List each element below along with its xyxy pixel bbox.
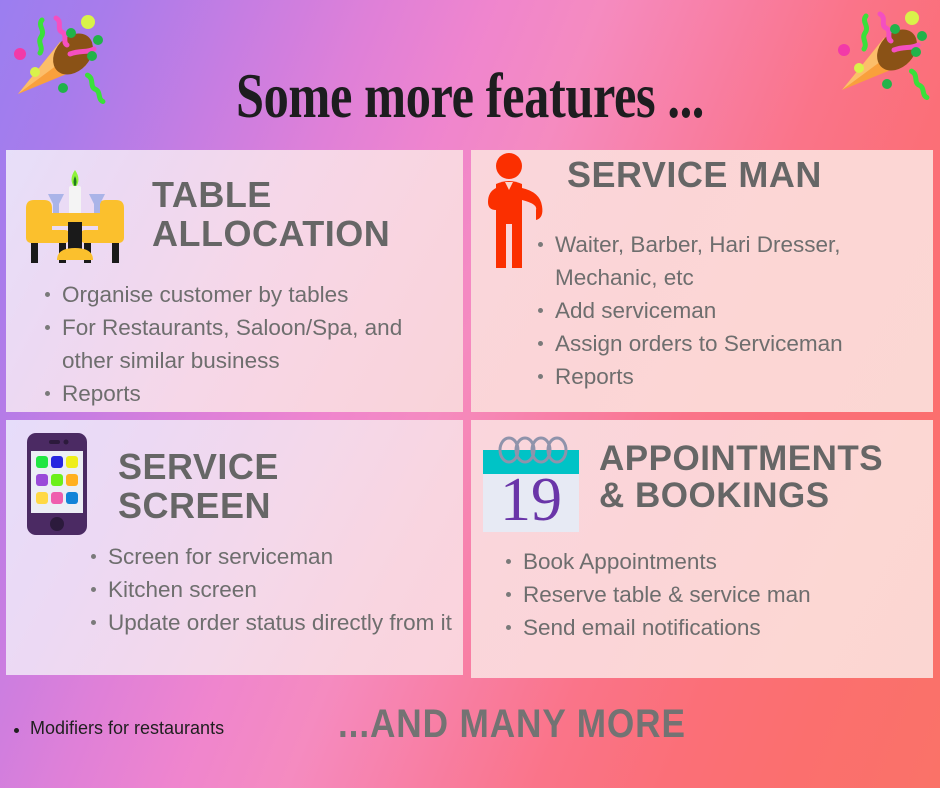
party-popper-icon xyxy=(8,8,108,104)
list-item: Book Appointments xyxy=(501,545,925,578)
list-item: Organise customer by tables xyxy=(40,278,445,311)
list-item: For Restaurants, Saloon/Spa, and other s… xyxy=(40,311,445,377)
list-item: Reports xyxy=(533,360,925,393)
dining-table-icon xyxy=(12,164,138,264)
list-item: Reserve table & service man xyxy=(501,578,925,611)
slide-canvas: Some more features ... xyxy=(0,0,940,788)
page-title: Some more features ... xyxy=(94,56,846,136)
feature-bullet-list: Book Appointments Reserve table & servic… xyxy=(501,545,925,644)
card-title: TABLE ALLOCATION xyxy=(152,176,390,253)
feature-bullet-list: Screen for serviceman Kitchen screen Upd… xyxy=(86,540,455,639)
header: Some more features ... xyxy=(0,0,940,140)
feature-card-table-allocation: TABLE ALLOCATION Organise customer by ta… xyxy=(6,150,463,412)
card-title: SERVICE SCREEN xyxy=(118,448,279,525)
party-popper-icon xyxy=(832,4,932,100)
card-header: SERVICE SCREEN xyxy=(26,432,279,536)
feature-card-service-screen: SERVICE SCREEN Screen for serviceman Kit… xyxy=(6,420,463,675)
list-item: Reports xyxy=(40,377,445,410)
mobile-phone-icon xyxy=(26,432,88,536)
card-header: TABLE ALLOCATION xyxy=(12,164,390,264)
list-item: Send email notifications xyxy=(501,611,925,644)
list-item: Screen for serviceman xyxy=(86,540,455,573)
list-item: Kitchen screen xyxy=(86,573,455,606)
feature-bullet-list: Organise customer by tables For Restaura… xyxy=(40,278,445,410)
card-title: APPOINTMENTS & BOOKINGS xyxy=(599,440,883,515)
feature-bullet-list: Waiter, Barber, Hari Dresser, Mechanic, … xyxy=(533,228,925,393)
list-item: Waiter, Barber, Hari Dresser, Mechanic, … xyxy=(533,228,925,294)
list-item: Add serviceman xyxy=(533,294,925,327)
list-item: Update order status directly from it xyxy=(86,606,455,639)
list-item: Assign orders to Serviceman xyxy=(533,327,925,360)
feature-card-service-man: SERVICE MAN Waiter, Barber, Hari Dresser… xyxy=(471,150,933,412)
calendar-icon: 19 xyxy=(479,434,583,534)
feature-card-appointments-bookings: 19 APPOINTMENTS & BOOKINGS Book Appointm… xyxy=(471,420,933,678)
calendar-day-number: 19 xyxy=(500,466,562,534)
footer-tagline: ...AND MANY MORE xyxy=(338,702,686,747)
footer: Modifiers for restaurants ...AND MANY MO… xyxy=(0,680,940,788)
card-title: SERVICE MAN xyxy=(567,156,822,195)
footer-note: Modifiers for restaurants xyxy=(8,718,224,739)
card-header: 19 APPOINTMENTS & BOOKINGS xyxy=(479,434,883,534)
